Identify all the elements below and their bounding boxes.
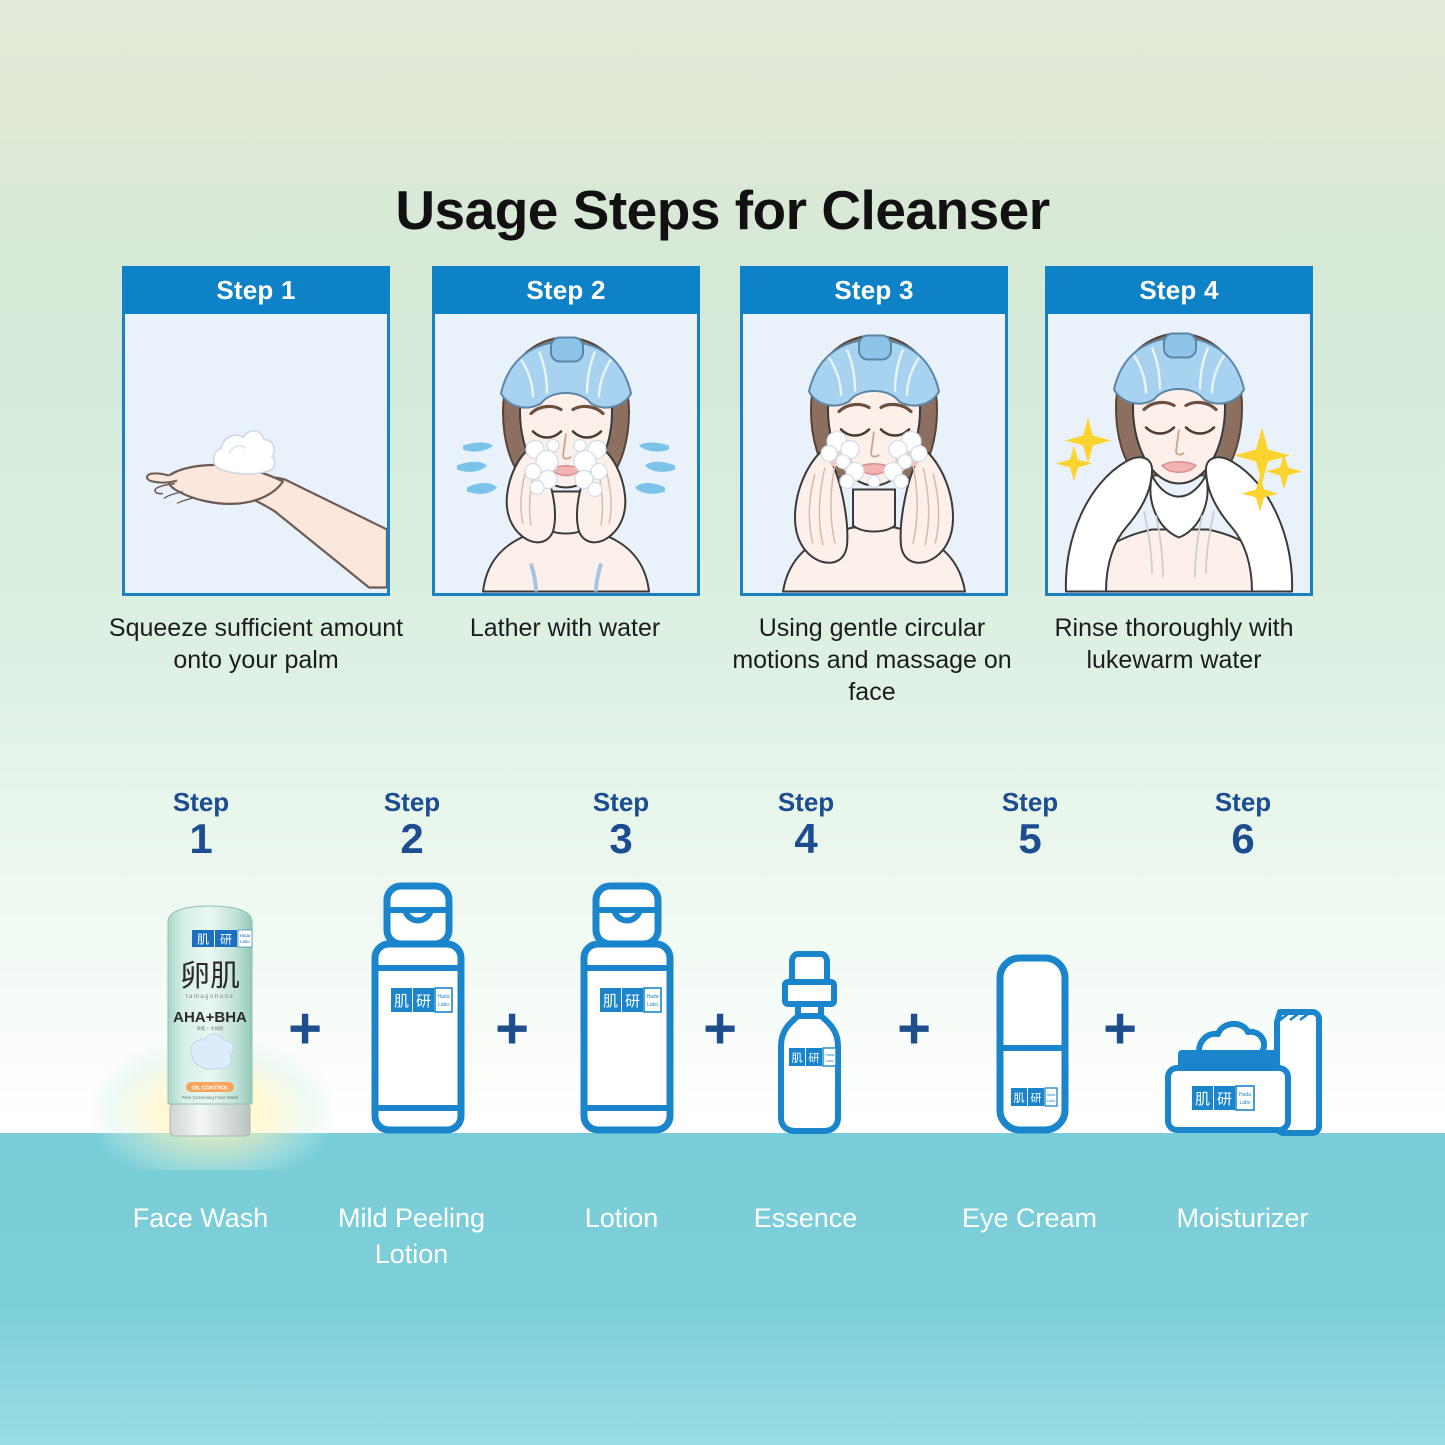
tube-actives: AHA+BHA xyxy=(173,1009,247,1026)
routine-step-label-4: Step 4 xyxy=(731,789,881,862)
usage-step-header-3: Step 3 xyxy=(740,266,1008,314)
usage-step-illustration-2 xyxy=(432,314,700,596)
product-art-moisturizer: 肌 研 Hada Labo xyxy=(1160,1000,1330,1136)
bottle-kanji-2: 研 xyxy=(416,992,431,1010)
product-name-4: Essence xyxy=(698,1200,913,1236)
tube-product-jp: 卵肌 xyxy=(180,959,240,994)
svg-text:Labo: Labo xyxy=(438,1002,449,1008)
bottle-kanji-2: 研 xyxy=(809,1052,820,1065)
svg-text:Hada: Hada xyxy=(240,933,251,938)
jar-kanji-1: 肌 xyxy=(1195,1090,1210,1108)
routine-step-word-2: Step xyxy=(337,789,487,816)
tube-kanji-1: 肌 xyxy=(1014,1092,1025,1105)
product-art-lotion: 肌 研 Hada Labo xyxy=(572,880,682,1135)
svg-text:Hada: Hada xyxy=(1047,1093,1056,1097)
usage-step-header-2: Step 2 xyxy=(432,266,700,314)
tube-kanji-1: 肌 xyxy=(197,933,209,947)
usage-step-caption-2: Lather with water xyxy=(415,612,715,644)
woman-massaging-icon xyxy=(743,314,1005,593)
usage-step-caption-3: Using gentle circular motions and massag… xyxy=(722,612,1022,708)
eye-cream-tube-icon: 肌 研 Hada Labo xyxy=(990,952,1075,1136)
routine-step-label-2: Step 2 xyxy=(337,789,487,862)
plus-separator-3: + xyxy=(690,1000,750,1058)
page-title: Usage Steps for Cleanser xyxy=(0,178,1445,242)
plus-separator-2: + xyxy=(482,1000,542,1058)
routine-step-word-5: Step xyxy=(955,789,1105,816)
woman-towel-sparkles-icon xyxy=(1048,314,1310,593)
usage-step-caption-1: Squeeze sufficient amount onto your palm xyxy=(106,612,406,676)
product-art-essence: 肌 研 Hada Labo xyxy=(767,948,852,1136)
svg-text:Labo: Labo xyxy=(1047,1099,1055,1103)
usage-step-illustration-1 xyxy=(122,314,390,596)
routine-step-number-3: 3 xyxy=(546,816,696,861)
cream-jar-and-tube-icon: 肌 研 Hada Labo xyxy=(1160,1000,1330,1136)
routine-step-label-5: Step 5 xyxy=(955,789,1105,862)
svg-text:果酸 + 水楊酸: 果酸 + 水楊酸 xyxy=(197,1025,225,1032)
product-name-1: Face Wash xyxy=(93,1200,308,1236)
usage-step-caption-4: Rinse thoroughly with lukewarm water xyxy=(1024,612,1324,676)
cleanser-tube-icon: 肌 研 Hada Labo 卵肌 tamagohada AHA+BHA 果酸 +… xyxy=(148,898,273,1138)
plus-separator-1: + xyxy=(275,1000,335,1058)
routine-step-number-2: 2 xyxy=(337,816,487,861)
routine-step-number-5: 5 xyxy=(955,816,1105,861)
bottle-kanji-1: 肌 xyxy=(603,992,618,1010)
routine-step-label-3: Step 3 xyxy=(546,789,696,862)
product-name-2: Mild Peeling Lotion xyxy=(304,1200,519,1273)
tube-badge: OIL CONTROL xyxy=(191,1085,229,1091)
usage-step-illustration-3 xyxy=(740,314,1008,596)
usage-step-card-2: Step 2 xyxy=(432,266,700,596)
tube-kanji-2: 研 xyxy=(220,933,232,947)
svg-text:Labo: Labo xyxy=(825,1059,833,1063)
dropper-bottle-icon: 肌 研 Hada Labo xyxy=(767,948,852,1136)
plus-separator-5: + xyxy=(1090,1000,1150,1058)
jar-kanji-2: 研 xyxy=(1217,1090,1232,1108)
tube-kanji-2: 研 xyxy=(1031,1092,1042,1105)
routine-step-word-4: Step xyxy=(731,789,881,816)
bottle-kanji-1: 肌 xyxy=(394,992,409,1010)
routine-step-number-1: 1 xyxy=(126,816,276,861)
plus-separator-4: + xyxy=(884,1000,944,1058)
pump-bottle-icon: 肌 研 Hada Labo xyxy=(363,880,473,1135)
product-art-eye-cream: 肌 研 Hada Labo xyxy=(990,952,1075,1136)
tube-subline: Pore Correcting Face Wash xyxy=(182,1095,239,1100)
teal-band xyxy=(0,1133,1445,1445)
routine-step-word-1: Step xyxy=(126,789,276,816)
usage-step-card-4: Step 4 xyxy=(1045,266,1313,596)
svg-text:Hada: Hada xyxy=(647,994,659,1000)
routine-step-number-6: 6 xyxy=(1168,816,1318,861)
svg-text:Hada: Hada xyxy=(438,994,450,1000)
routine-step-word-6: Step xyxy=(1168,789,1318,816)
infographic-page: Usage Steps for Cleanser Step 1 Squeeze xyxy=(0,0,1445,1445)
woman-lathering-icon xyxy=(435,314,697,593)
svg-text:Hada: Hada xyxy=(825,1053,835,1057)
usage-step-header-1: Step 1 xyxy=(122,266,390,314)
product-name-3: Lotion xyxy=(514,1200,729,1236)
usage-step-header-4: Step 4 xyxy=(1045,266,1313,314)
routine-step-label-1: Step 1 xyxy=(126,789,276,862)
product-name-5: Eye Cream xyxy=(922,1200,1137,1236)
svg-text:Labo: Labo xyxy=(240,939,250,944)
routine-step-word-3: Step xyxy=(546,789,696,816)
bottle-kanji-1: 肌 xyxy=(792,1052,803,1065)
hand-with-foam-icon xyxy=(125,314,387,593)
usage-step-card-3: Step 3 xyxy=(740,266,1008,596)
product-art-mild-peeling-lotion: 肌 研 Hada Labo xyxy=(363,880,473,1135)
tube-product-romaji: tamagohada xyxy=(186,994,234,1000)
svg-text:Labo: Labo xyxy=(1239,1100,1250,1106)
svg-text:Labo: Labo xyxy=(647,1002,658,1008)
usage-step-illustration-4 xyxy=(1045,314,1313,596)
bottle-kanji-2: 研 xyxy=(625,992,640,1010)
routine-step-label-6: Step 6 xyxy=(1168,789,1318,862)
product-art-face-wash: 肌 研 Hada Labo 卵肌 tamagohada AHA+BHA 果酸 +… xyxy=(148,898,273,1138)
product-name-6: Moisturizer xyxy=(1135,1200,1350,1236)
pump-bottle-icon: 肌 研 Hada Labo xyxy=(572,880,682,1135)
usage-step-card-1: Step 1 xyxy=(122,266,390,596)
svg-text:Hada: Hada xyxy=(1239,1092,1251,1098)
routine-step-number-4: 4 xyxy=(731,816,881,861)
